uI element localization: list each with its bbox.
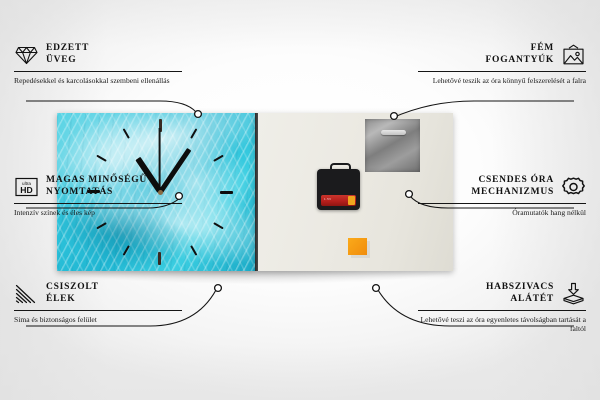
- picture-hanger-icon: [561, 42, 586, 67]
- callout-title: EDZETT ÜVEG: [46, 43, 89, 66]
- clock-mechanism: 1.5V: [317, 169, 360, 210]
- leader-path-tempered-glass: [26, 101, 196, 112]
- svg-text:HD: HD: [20, 185, 32, 195]
- callout-high-quality-print: ultra HD MAGAS MINŐSÉGŰ NYOMTATÁS Intenz…: [14, 174, 182, 217]
- callout-header: CSENDES ÓRA MECHANIZMUS: [418, 174, 586, 199]
- callout-description: Lehetővé teszik az óra könnyű felszerelé…: [418, 76, 586, 85]
- callout-tempered-glass: EDZETT ÜVEG Repedésekkel és karcolásokka…: [14, 42, 182, 85]
- foam-pad-icon: [561, 281, 586, 306]
- callout-polished-edges: CSISZOLT ÉLEK Sima és biztonságos felüle…: [14, 281, 182, 324]
- hanger-slot: [381, 130, 406, 135]
- callout-divider: [418, 310, 586, 311]
- callout-divider: [418, 71, 586, 72]
- callout-divider: [14, 203, 182, 204]
- callout-header: CSISZOLT ÉLEK: [14, 281, 182, 306]
- callout-description: Repedésekkel és karcolásokkal szembeni e…: [14, 76, 182, 85]
- battery-label: 1.5V: [324, 197, 331, 201]
- metal-hanger-icon: [365, 119, 420, 172]
- mechanism-tab: [330, 163, 351, 173]
- callout-title: MAGAS MINŐSÉGŰ NYOMTATÁS: [46, 175, 147, 198]
- callout-divider: [14, 71, 182, 72]
- callout-title: FÉM FOGANTYÚK: [486, 43, 555, 66]
- infographic-canvas: 1.5V: [0, 0, 600, 400]
- callout-description: Sima és biztonságos felület: [14, 315, 182, 324]
- foam-pad-sample: [348, 238, 367, 255]
- battery: 1.5V: [321, 195, 356, 206]
- leader-dot-foam: [373, 285, 380, 292]
- leader-dot-edges: [215, 285, 222, 292]
- callout-description: Óramutatók hang nélkül: [418, 208, 586, 217]
- callout-header: EDZETT ÜVEG: [14, 42, 182, 67]
- callout-header: HABSZIVACS ALÁTÉT: [418, 281, 586, 306]
- callout-divider: [14, 310, 182, 311]
- callout-foam-pad: HABSZIVACS ALÁTÉT Lehetővé teszi az óra …: [418, 281, 586, 333]
- callout-metal-handles: FÉM FOGANTYÚK Lehetővé teszik az óra kön…: [418, 42, 586, 85]
- ultra-hd-icon: ultra HD: [14, 174, 39, 199]
- callout-silent-mechanism: CSENDES ÓRA MECHANIZMUS Óramutatók hang …: [418, 174, 586, 217]
- gear-icon: [561, 174, 586, 199]
- callout-header: ultra HD MAGAS MINŐSÉGŰ NYOMTATÁS: [14, 174, 182, 199]
- battery-positive-terminal: [348, 196, 355, 205]
- diamond-icon: [14, 42, 39, 67]
- callout-divider: [418, 203, 586, 204]
- panel-seam: [255, 113, 258, 271]
- beveled-edge-icon: [14, 281, 39, 306]
- callout-header: FÉM FOGANTYÚK: [418, 42, 586, 67]
- callout-title: CSENDES ÓRA MECHANIZMUS: [471, 175, 554, 198]
- callout-description: Lehetővé teszi az óra egyenletes távolsá…: [418, 315, 586, 334]
- callout-description: Intenzív színek és éles kép: [14, 208, 182, 217]
- callout-title: HABSZIVACS ALÁTÉT: [486, 282, 554, 305]
- callout-title: CSISZOLT ÉLEK: [46, 282, 99, 305]
